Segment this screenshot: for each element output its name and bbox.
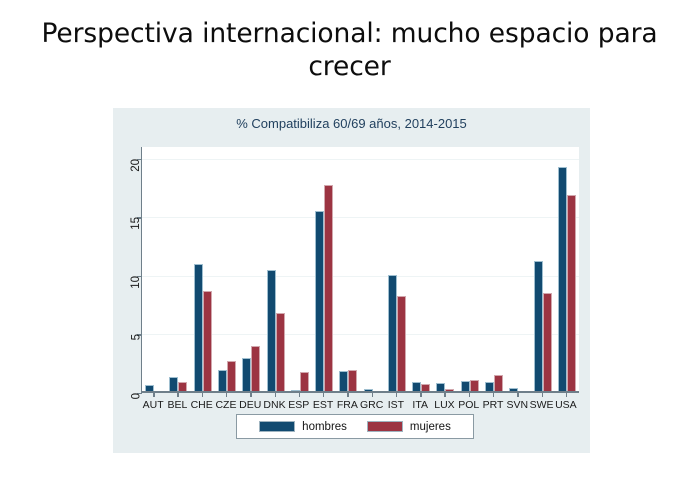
slide: Perspectiva internacional: mucho espacio… xyxy=(0,0,699,490)
x-axis-tick xyxy=(347,393,348,397)
bar-deu-mujeres xyxy=(251,346,260,393)
bar-swe-mujeres xyxy=(543,293,552,393)
bar-group xyxy=(458,147,482,393)
x-axis-tick xyxy=(469,393,470,397)
y-axis-label: 15 xyxy=(130,217,142,230)
bar-ist-mujeres xyxy=(397,296,406,393)
x-axis-label-prt: PRT xyxy=(483,399,504,411)
x-axis-tick xyxy=(177,393,178,397)
legend-swatch-hombres xyxy=(259,421,295,432)
bar-group xyxy=(312,147,336,393)
bar-dnk-mujeres xyxy=(276,313,285,393)
x-axis-label-lux: LUX xyxy=(434,399,454,411)
x-axis-label-ita: ITA xyxy=(412,399,428,411)
x-axis-label-cze: CZE xyxy=(215,399,236,411)
chart-title: % Compatibiliza 60/69 años, 2014-2015 xyxy=(113,116,590,131)
bar-est-hombres xyxy=(315,211,324,393)
bar-group xyxy=(433,147,457,393)
bar-group xyxy=(191,147,215,393)
x-axis-label-swe: SWE xyxy=(530,399,554,411)
bar-fra-mujeres xyxy=(348,370,357,393)
bar-group xyxy=(142,147,166,393)
x-axis-tick xyxy=(396,393,397,397)
x-axis-tick xyxy=(323,393,324,397)
bar-prt-mujeres xyxy=(494,375,503,393)
bar-deu-hombres xyxy=(242,358,251,393)
y-axis-label: 20 xyxy=(130,159,142,172)
x-axis-label-est: EST xyxy=(313,399,333,411)
bar-group xyxy=(385,147,409,393)
x-axis-label-grc: GRC xyxy=(360,399,383,411)
bar-group xyxy=(555,147,579,393)
bar-est-mujeres xyxy=(324,185,333,394)
x-axis-label-aut: AUT xyxy=(143,399,164,411)
x-axis-tick xyxy=(444,393,445,397)
x-axis-tick xyxy=(226,393,227,397)
x-axis-tick xyxy=(542,393,543,397)
y-axis-label: 5 xyxy=(130,334,142,340)
x-axis-label-bel: BEL xyxy=(167,399,187,411)
legend-item-hombres: hombres xyxy=(259,421,347,433)
x-axis-tick xyxy=(517,393,518,397)
x-axis-label-dnk: DNK xyxy=(263,399,285,411)
bar-group xyxy=(215,147,239,393)
legend-label-mujeres: mujeres xyxy=(410,421,451,433)
bar-group xyxy=(288,147,312,393)
y-axis-label: 10 xyxy=(130,276,142,289)
bar-che-hombres xyxy=(194,264,203,393)
x-axis-label-ist: IST xyxy=(388,399,404,411)
x-axis-labels: AUTBELCHECZEDEUDNKESPESTFRAGRCISTITALUXP… xyxy=(141,393,578,415)
bar-usa-hombres xyxy=(558,167,567,393)
x-axis-tick xyxy=(493,393,494,397)
x-axis-tick xyxy=(299,393,300,397)
bar-cze-mujeres xyxy=(227,361,236,393)
bar-group xyxy=(361,147,385,393)
chart-panel: % Compatibiliza 60/69 años, 2014-2015 05… xyxy=(113,108,590,453)
x-axis-tick xyxy=(153,393,154,397)
bar-usa-mujeres xyxy=(567,195,576,393)
bar-group xyxy=(506,147,530,393)
x-axis-label-esp: ESP xyxy=(288,399,309,411)
plot-area: 05101520 xyxy=(141,147,579,393)
bar-fra-hombres xyxy=(339,371,348,393)
x-axis-tick xyxy=(420,393,421,397)
bar-swe-hombres xyxy=(534,261,543,393)
bars-layer xyxy=(142,147,579,393)
x-axis-tick xyxy=(566,393,567,397)
bar-group xyxy=(482,147,506,393)
bar-group xyxy=(336,147,360,393)
bar-esp-mujeres xyxy=(300,372,309,393)
bar-dnk-hombres xyxy=(267,270,276,393)
legend-item-mujeres: mujeres xyxy=(367,421,451,433)
bar-group xyxy=(166,147,190,393)
x-axis-label-che: CHE xyxy=(191,399,213,411)
bar-group xyxy=(530,147,554,393)
x-axis-tick xyxy=(250,393,251,397)
x-axis-label-fra: FRA xyxy=(337,399,358,411)
x-axis-tick xyxy=(202,393,203,397)
bar-group xyxy=(409,147,433,393)
x-axis-label-deu: DEU xyxy=(239,399,261,411)
bar-group xyxy=(263,147,287,393)
x-axis-tick xyxy=(275,393,276,397)
bar-cze-hombres xyxy=(218,370,227,393)
slide-title: Perspectiva internacional: mucho espacio… xyxy=(20,18,679,84)
x-axis-label-usa: USA xyxy=(555,399,577,411)
bar-che-mujeres xyxy=(203,291,212,394)
x-axis-label-pol: POL xyxy=(458,399,479,411)
chart-legend: hombres mujeres xyxy=(236,414,474,439)
bar-ist-hombres xyxy=(388,275,397,393)
legend-label-hombres: hombres xyxy=(302,421,347,433)
x-axis-label-svn: SVN xyxy=(507,399,529,411)
legend-swatch-mujeres xyxy=(367,421,403,432)
x-axis-tick xyxy=(372,393,373,397)
bar-group xyxy=(239,147,263,393)
